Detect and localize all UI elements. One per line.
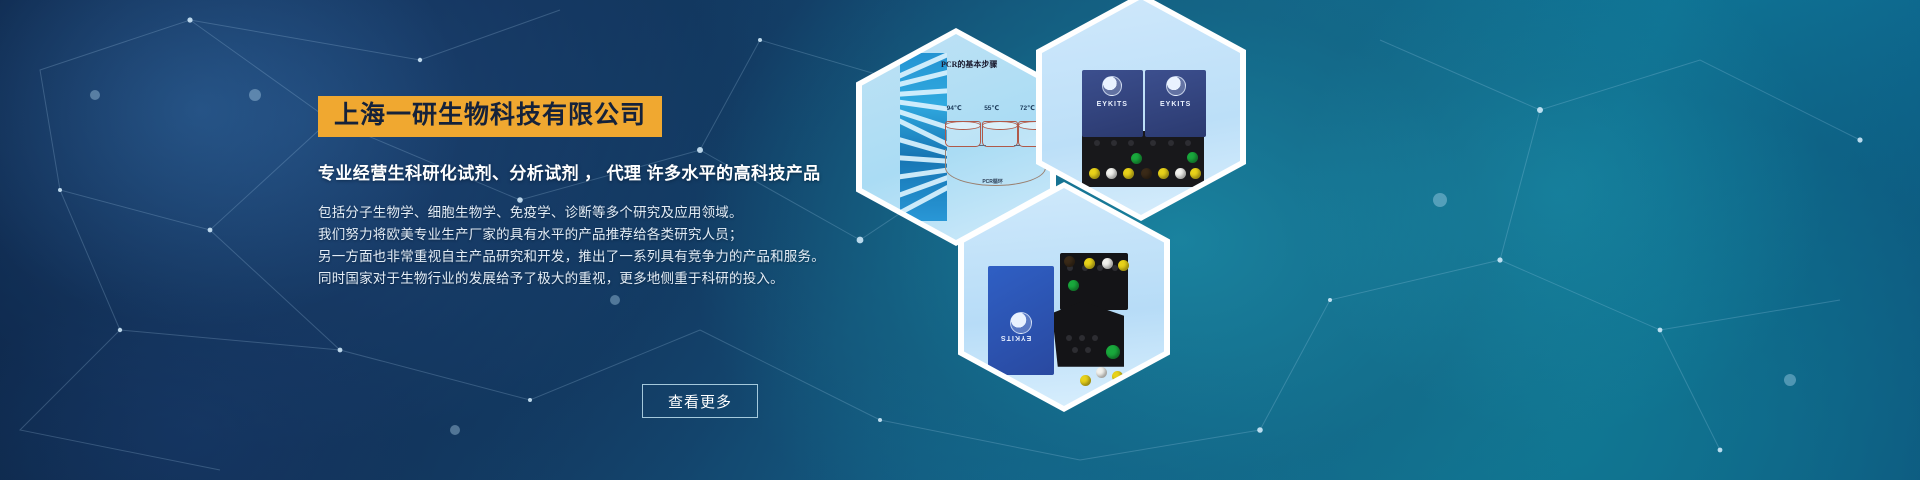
hexagon-image-cluster: PCR的基本步骤 94℃ 55℃ 72℃ PCR循环	[850, 0, 1270, 480]
pcr-temperature-3: 72℃	[1020, 104, 1035, 112]
company-name-chip: 上海一研生物科技有限公司	[318, 96, 662, 137]
vial-cap-yellow-2	[1123, 168, 1134, 179]
foam-rack	[1082, 131, 1205, 187]
pcr-diagram-title: PCR的基本步骤	[941, 59, 997, 70]
eykits-logo-mark-left	[1102, 76, 1122, 96]
vial-cap-white	[1106, 168, 1117, 179]
dna-helix-icon	[900, 53, 947, 222]
kit-box-left: EYKITS	[1082, 70, 1143, 137]
vial-cap-white-2	[1175, 168, 1186, 179]
kit-box-brand-right: EYKITS	[1145, 101, 1206, 108]
vial-cap-yellow-4	[1190, 168, 1201, 179]
view-more-button[interactable]: 查看更多	[642, 384, 758, 418]
eykits-logo-mark-right	[1166, 76, 1186, 96]
description-line-4: 同时国家对于生物行业的发展给予了极大的重视，更多地侧重于科研的投入。	[318, 268, 878, 290]
pcr-cycle-label: PCR循环	[982, 178, 1003, 185]
description-line-1: 包括分子生物学、细胞生物学、免疫学、诊断等多个研究及应用领域。	[318, 202, 878, 224]
banner-content: 上海一研生物科技有限公司 专业经营生科研化试剂、分析试剂 ， 代理 许多水平的高…	[318, 96, 878, 290]
kit-pouch-brand: EYKITS	[1000, 334, 1031, 341]
pcr-temperature-1: 94℃	[947, 104, 962, 112]
kit-box-brand-left: EYKITS	[1082, 101, 1143, 108]
pouch-vial-cap-brown	[1064, 256, 1075, 267]
kit-box-right: EYKITS	[1145, 70, 1206, 137]
hero-banner: 上海一研生物科技有限公司 专业经营生科研化试剂、分析试剂 ， 代理 许多水平的高…	[0, 0, 1920, 480]
pcr-step-connector-1	[979, 145, 987, 146]
pcr-tube-2	[982, 121, 1018, 147]
pcr-tube-1	[945, 121, 981, 147]
vial-cap-green-2	[1187, 152, 1198, 163]
kit-pouch-box: EYKITS	[988, 266, 1054, 375]
hexagon-kit-pouch-inner: EYKITS	[964, 188, 1164, 406]
pouch-vial-cap-yellow-2	[1118, 260, 1129, 271]
pouch-vial-cap-yellow	[1084, 258, 1095, 269]
banner-description: 包括分子生物学、细胞生物学、免疫学、诊断等多个研究及应用领域。 我们努力将欧美专…	[318, 202, 878, 290]
vial-cap-yellow	[1089, 168, 1100, 179]
vial-cap-green	[1131, 153, 1142, 164]
eykits-logo-mark-pouch	[1010, 312, 1032, 334]
pouch-vial-cap-green-2	[1106, 345, 1120, 359]
pouch-vial-cap-white	[1102, 258, 1113, 269]
description-line-2: 我们努力将欧美专业生产厂家的具有水平的产品推荐给各类研究人员；	[318, 224, 878, 246]
vial-cap-brown	[1141, 168, 1152, 179]
description-line-3: 另一方面也非常重视自主产品研究和开发，推出了一系列具有竞争力的产品和服务。	[318, 246, 878, 268]
pouch-vial-cap-yellow-3	[1112, 371, 1123, 382]
pcr-temperature-2: 55℃	[984, 104, 999, 112]
vial-cap-yellow-3	[1158, 168, 1169, 179]
banner-subtitle: 专业经营生科研化试剂、分析试剂 ， 代理 许多水平的高科技产品	[318, 159, 878, 184]
pouch-vial-cap-white-2	[1096, 367, 1107, 378]
pouch-vial-cap-green	[1068, 280, 1079, 291]
pcr-step-connector-2	[1014, 145, 1020, 146]
hexagon-kit-boxes-inner: EYKITS EYKITS	[1042, 0, 1240, 215]
